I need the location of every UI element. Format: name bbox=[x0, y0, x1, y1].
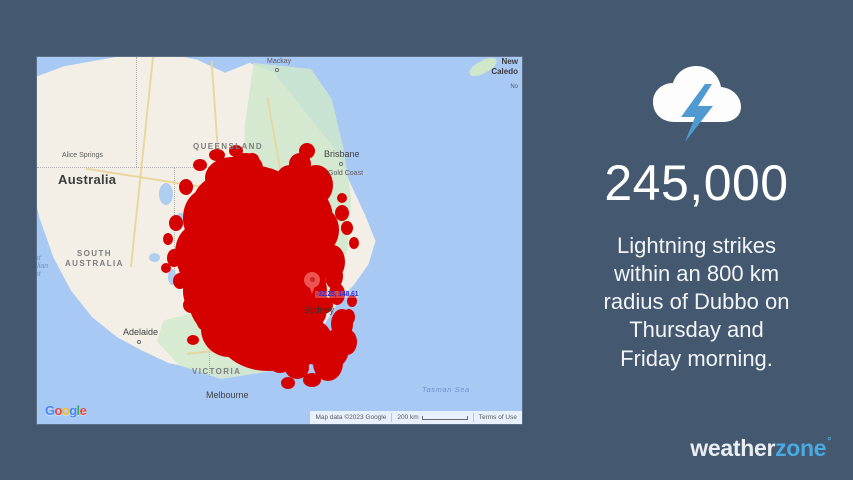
strike-caption: Lightning strikes within an 800 km radiu… bbox=[557, 232, 837, 373]
caption-line-5: Friday morning. bbox=[557, 345, 837, 373]
coordinate-readout: -32.25, 148.61 bbox=[315, 291, 359, 298]
lake bbox=[141, 353, 150, 360]
city-dot-mackay bbox=[275, 68, 279, 72]
caption-line-1: Lightning strikes bbox=[557, 232, 837, 260]
map-data-attribution: Map data ©2023 Google bbox=[310, 414, 391, 421]
terms-of-use-link[interactable]: Terms of Use bbox=[474, 414, 522, 421]
lake bbox=[168, 269, 176, 285]
state-border-line bbox=[174, 167, 175, 283]
google-letter-e: e bbox=[80, 403, 87, 418]
strike-count-value: 245,000 bbox=[604, 158, 788, 208]
map-scale-label: 200 km bbox=[397, 414, 418, 421]
city-dot-brisbane bbox=[339, 162, 343, 166]
logo-text-zone: zone bbox=[775, 435, 826, 462]
google-letter-g: G bbox=[45, 403, 55, 418]
google-logo: Google bbox=[45, 403, 86, 418]
state-border-line bbox=[37, 167, 209, 168]
google-letter-o1: o bbox=[55, 403, 62, 418]
logo-text-weather: weather bbox=[690, 435, 775, 462]
lake bbox=[176, 213, 185, 227]
weatherzone-logo: weatherzone° bbox=[690, 435, 831, 462]
caption-line-3: radius of Dubbo on bbox=[557, 288, 837, 316]
city-dot-adelaide bbox=[137, 340, 141, 344]
lake bbox=[149, 253, 160, 262]
stat-panel: 245,000 Lightning strikes within an 800 … bbox=[540, 0, 853, 480]
state-border-line bbox=[209, 167, 210, 377]
map-scale-bar: 200 km bbox=[392, 414, 472, 421]
map-panel[interactable]: eatralianght Alice Springs Australia QUE… bbox=[36, 56, 523, 425]
map-scale-rule bbox=[422, 416, 468, 420]
map-attribution-bar: Map data ©2023 Google 200 km Terms of Us… bbox=[310, 411, 522, 424]
logo-degree-mark: ° bbox=[827, 437, 831, 447]
state-border-line bbox=[174, 283, 324, 284]
pin-hole bbox=[310, 277, 315, 282]
caption-line-2: within an 800 km bbox=[557, 260, 837, 288]
caption-line-4: Thursday and bbox=[557, 316, 837, 344]
lake bbox=[159, 183, 173, 205]
google-letter-g2: g bbox=[69, 403, 76, 418]
state-border-line bbox=[136, 57, 137, 167]
storm-cloud-lightning-icon bbox=[651, 62, 743, 144]
